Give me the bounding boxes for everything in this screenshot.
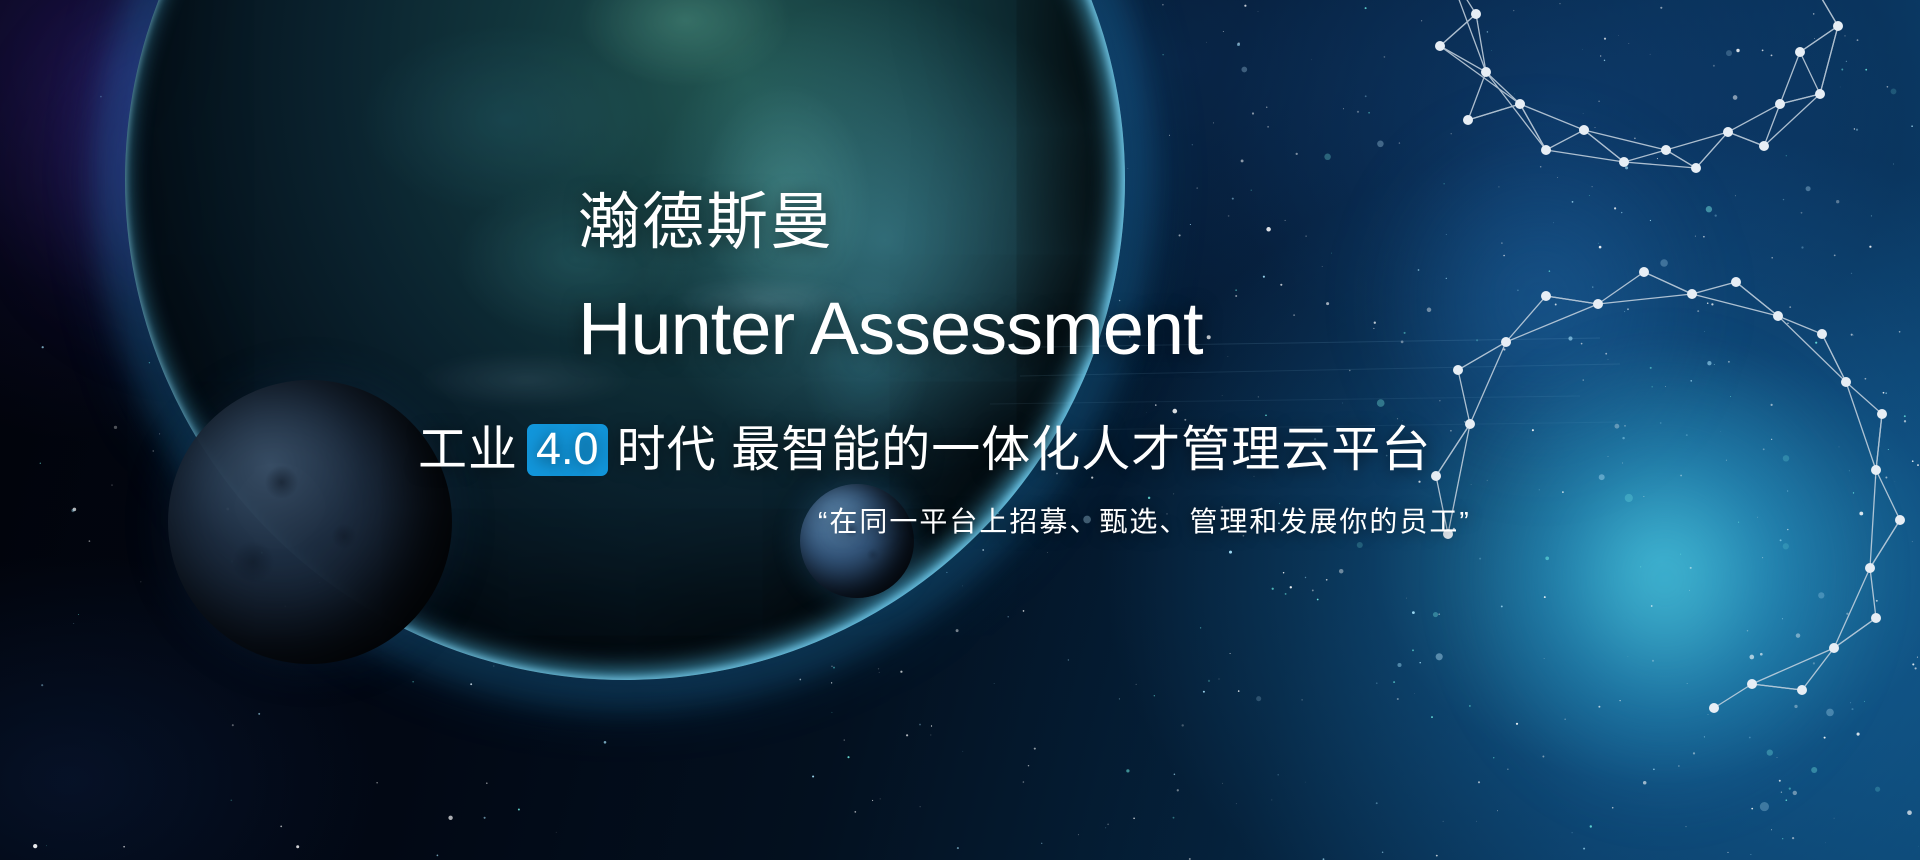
network-ring-bottom-icon [1430,238,1920,738]
moon-large [168,380,452,664]
moon-small [800,484,914,598]
hero-banner: 瀚德斯曼 Hunter Assessment 工业 4.0 时代 最智能的一体化… [0,0,1920,860]
